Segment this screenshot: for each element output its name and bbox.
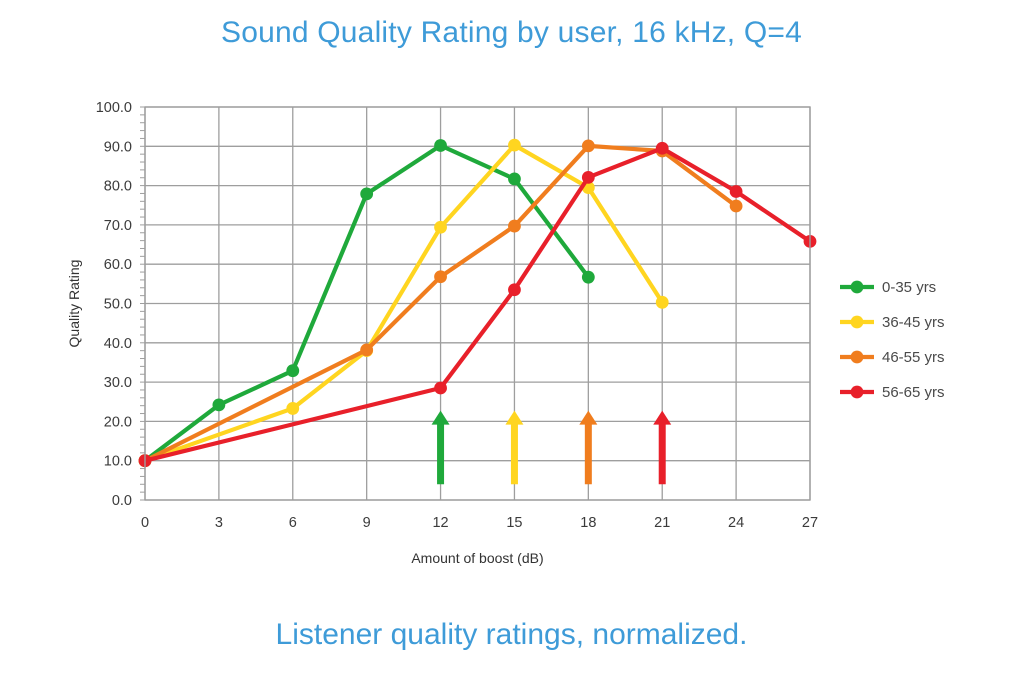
data-point: [212, 398, 225, 411]
legend-item-label: 36-45 yrs: [882, 314, 945, 331]
data-point: [582, 171, 595, 184]
arrow-head: [653, 411, 671, 425]
y-tick-label: 30.0: [104, 375, 132, 391]
y-tick-label: 50.0: [104, 297, 132, 313]
data-point: [508, 139, 521, 152]
y-tick-label: 40.0: [104, 336, 132, 352]
data-point: [434, 382, 447, 395]
x-tick-label: 27: [802, 515, 818, 531]
legend-swatch-marker: [851, 386, 864, 399]
chart-figure: 0369121518212427 0.010.020.030.040.050.0…: [0, 80, 1023, 580]
data-point: [656, 142, 669, 155]
data-point: [730, 185, 743, 198]
axis-titles: Amount of boost (dB)Quality Rating: [66, 260, 544, 566]
y-tick-label: 60.0: [104, 257, 132, 273]
data-point: [434, 139, 447, 152]
y-tick-label: 80.0: [104, 179, 132, 195]
legend-item[interactable]: 0-35 yrs: [840, 279, 936, 296]
legend-item[interactable]: 36-45 yrs: [840, 314, 945, 331]
legend-item-label: 46-55 yrs: [882, 349, 945, 366]
line-chart-canvas: 0369121518212427 0.010.020.030.040.050.0…: [0, 80, 1023, 580]
chart-legend: 0-35 yrs36-45 yrs46-55 yrs56-65 yrs: [840, 279, 945, 401]
x-axis-title: Amount of boost (dB): [411, 550, 543, 566]
data-point: [730, 200, 743, 213]
x-tick-label: 21: [654, 515, 670, 531]
y-tick-label: 10.0: [104, 454, 132, 470]
arrow-head: [579, 411, 597, 425]
data-point: [508, 173, 521, 186]
legend-item-label: 56-65 yrs: [882, 384, 945, 401]
data-point: [360, 343, 373, 356]
x-tick-label: 3: [215, 515, 223, 531]
data-point: [582, 140, 595, 153]
grid-layer: [145, 107, 810, 500]
x-tick-label: 9: [363, 515, 371, 531]
legend-swatch-marker: [851, 316, 864, 329]
arrow-head: [432, 411, 450, 425]
figure-caption: Listener quality ratings, normalized.: [0, 618, 1023, 652]
legend-item[interactable]: 56-65 yrs: [840, 384, 945, 401]
annotation-arrow: [653, 411, 671, 485]
legend-swatch-marker: [851, 281, 864, 294]
arrow-head: [505, 411, 523, 425]
data-point: [508, 283, 521, 296]
x-tick-label: 12: [432, 515, 448, 531]
data-point: [656, 296, 669, 309]
data-point: [286, 364, 299, 377]
x-tick-label: 0: [141, 515, 149, 531]
chart-title: Sound Quality Rating by user, 16 kHz, Q=…: [0, 16, 1023, 50]
annotation-arrow: [432, 411, 450, 485]
y-tick-label: 0.0: [112, 493, 132, 509]
y-axis-title: Quality Rating: [66, 260, 82, 348]
y-tick-label: 100.0: [96, 100, 132, 116]
x-tick-label: 15: [506, 515, 522, 531]
data-point: [360, 187, 373, 200]
data-point: [434, 270, 447, 283]
annotation-arrow: [579, 411, 597, 485]
annotation-arrow: [505, 411, 523, 485]
data-point: [434, 221, 447, 234]
legend-item-label: 0-35 yrs: [882, 279, 936, 296]
x-tick-label: 18: [580, 515, 596, 531]
legend-item[interactable]: 46-55 yrs: [840, 349, 945, 366]
series-line: [145, 148, 810, 460]
legend-swatch-marker: [851, 351, 864, 364]
x-axis-tick-labels: 0369121518212427: [141, 515, 818, 531]
data-point: [582, 271, 595, 284]
data-point: [286, 402, 299, 415]
y-tick-label: 20.0: [104, 414, 132, 430]
x-tick-label: 6: [289, 515, 297, 531]
y-tick-label: 90.0: [104, 139, 132, 155]
minor-ticks-layer: [140, 107, 145, 500]
y-axis-tick-labels: 0.010.020.030.040.050.060.070.080.090.01…: [96, 100, 132, 509]
y-tick-label: 70.0: [104, 218, 132, 234]
data-point: [508, 220, 521, 233]
x-tick-label: 24: [728, 515, 744, 531]
